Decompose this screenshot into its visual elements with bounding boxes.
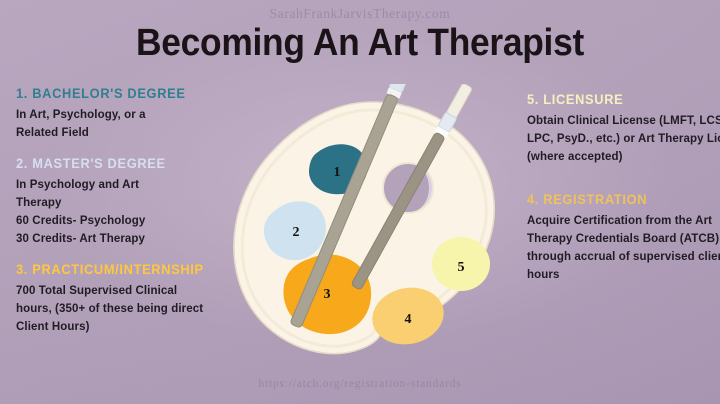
step-body-practicum-internship: 700 Total Supervised Clinical hours, (35… xyxy=(16,282,246,336)
step-body-line: Therapy xyxy=(16,194,246,212)
step-heading-bachelors-degree: 1. BACHELOR'S DEGREE xyxy=(16,86,235,101)
step-body-masters-degree: In Psychology and Art Therapy 60 Credits… xyxy=(16,176,246,248)
paint-palette-illustration: 1 2 3 4 5 xyxy=(222,84,512,384)
infographic-poster: SarahFrankJarvisTherapy.com Becoming An … xyxy=(0,0,720,404)
paint-blob-label-4: 4 xyxy=(405,312,412,327)
step-body-line: In Art, Psychology, or a xyxy=(16,106,246,124)
left-steps-column: 1. BACHELOR'S DEGREE In Art, Psychology,… xyxy=(16,86,246,350)
palette-svg: 1 2 3 4 5 xyxy=(222,84,512,384)
footer-url: https://atcb.org/registration-standards xyxy=(0,378,720,390)
step-bachelors-degree: 1. BACHELOR'S DEGREE In Art, Psychology,… xyxy=(16,86,246,142)
page-title: Becoming An Art Therapist xyxy=(25,22,695,65)
step-heading-registration: 4. REGISTRATION xyxy=(527,192,720,207)
step-body-line: 700 Total Supervised Clinical xyxy=(16,282,246,300)
paint-blob-5: 5 xyxy=(432,237,490,291)
step-registration: 4. REGISTRATION Acquire Certification fr… xyxy=(527,192,720,284)
step-heading-licensure: 5. LICENSURE xyxy=(527,92,720,107)
step-masters-degree: 2. MASTER'S DEGREE In Psychology and Art… xyxy=(16,156,246,248)
step-heading-masters-degree: 2. MASTER'S DEGREE xyxy=(16,156,235,171)
step-heading-practicum-internship: 3. PRACTICUM/INTERNSHIP xyxy=(16,262,235,277)
step-body-line: In Psychology and Art xyxy=(16,176,246,194)
step-body-line: Client Hours) xyxy=(16,318,246,336)
right-steps-column: 5. LICENSURE Obtain Clinical License (LM… xyxy=(527,92,720,298)
paint-blob-label-1: 1 xyxy=(334,165,341,180)
step-licensure: 5. LICENSURE Obtain Clinical License (LM… xyxy=(527,92,720,166)
step-body-licensure: Obtain Clinical License (LMFT, LCSW, LPC… xyxy=(527,112,720,166)
site-url-watermark: SarahFrankJarvisTherapy.com xyxy=(0,6,720,22)
paint-blob-label-5: 5 xyxy=(458,260,465,275)
paint-blob-label-2: 2 xyxy=(293,225,300,240)
paint-blob-label-3: 3 xyxy=(324,287,331,302)
step-practicum-internship: 3. PRACTICUM/INTERNSHIP 700 Total Superv… xyxy=(16,262,246,336)
step-body-line: Related Field xyxy=(16,124,246,142)
step-body-line: hours, (350+ of these being direct xyxy=(16,300,246,318)
step-body-bachelors-degree: In Art, Psychology, or a Related Field xyxy=(16,106,246,142)
step-body-line: 60 Credits- Psychology xyxy=(16,212,246,230)
step-body-line: 30 Credits- Art Therapy xyxy=(16,230,246,248)
step-body-registration: Acquire Certification from the Art Thera… xyxy=(527,212,720,284)
